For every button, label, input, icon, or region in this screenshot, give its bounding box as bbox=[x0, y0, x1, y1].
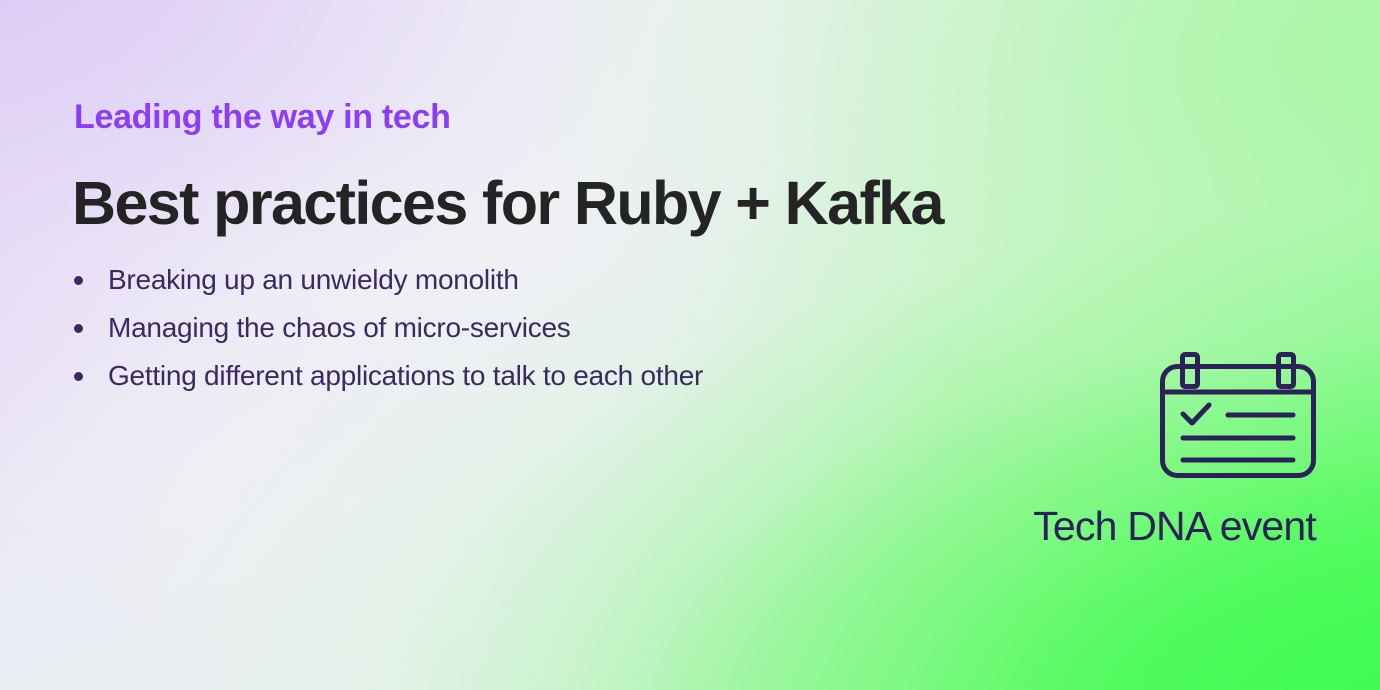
bullet-dot-icon bbox=[74, 372, 83, 381]
bullet-dot-icon bbox=[74, 324, 83, 333]
list-item-label: Managing the chaos of micro-services bbox=[108, 311, 571, 345]
event-caption-label: Tech DNA event bbox=[1033, 506, 1316, 547]
promo-banner: Leading the way in tech Best practices f… bbox=[0, 0, 1380, 690]
page-title: Best practices for Ruby + Kafka bbox=[72, 168, 943, 238]
list-item: Breaking up an unwieldy monolith bbox=[74, 263, 703, 311]
list-item: Managing the chaos of micro-services bbox=[74, 311, 703, 359]
calendar-checklist-icon bbox=[1160, 352, 1316, 478]
event-badge: Tech DNA event bbox=[1033, 352, 1316, 547]
list-item: Getting different applications to talk t… bbox=[74, 359, 703, 407]
bullet-dot-icon bbox=[74, 276, 83, 285]
eyebrow-text: Leading the way in tech bbox=[74, 98, 451, 137]
banner-content: Leading the way in tech Best practices f… bbox=[0, 0, 1380, 690]
topic-list: Breaking up an unwieldy monolith Managin… bbox=[74, 263, 703, 407]
list-item-label: Breaking up an unwieldy monolith bbox=[108, 263, 519, 297]
list-item-label: Getting different applications to talk t… bbox=[108, 359, 703, 393]
